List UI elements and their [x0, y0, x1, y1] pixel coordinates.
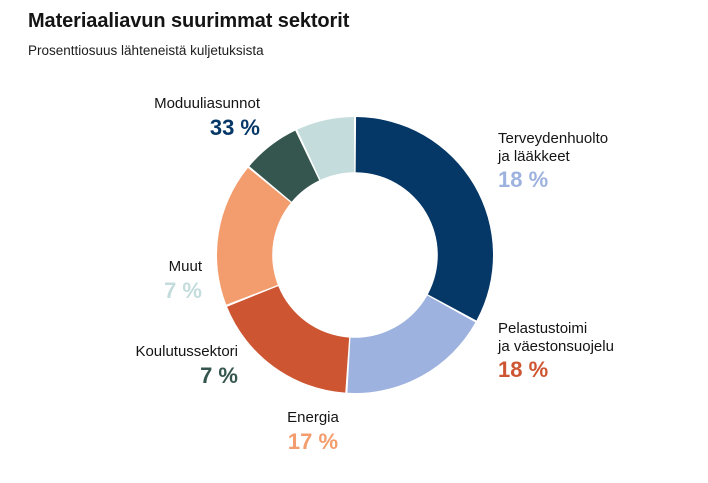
donut-slice[interactable]	[347, 295, 475, 393]
slice-label-pelastustoimi-ja-vaestonsuojelu: Pelastustoimi ja väestonsuojelu 18 %	[498, 320, 698, 383]
slice-label-name-line2: ja lääkkeet	[498, 148, 698, 166]
chart-container: Materiaaliavun suurimmat sektorit Prosen…	[0, 0, 708, 483]
slice-label-value: 7 %	[0, 278, 202, 304]
slice-label-value: 18 %	[498, 357, 698, 383]
slice-label-energia: Energia 17 %	[218, 409, 408, 455]
slice-label-terveydenhuolto-ja-laakkeet: Terveydenhuolto ja lääkkeet 18 %	[498, 130, 698, 193]
chart-subtitle: Prosenttiosuus lähteneistä kuljetuksista	[28, 43, 264, 58]
slice-label-muut: Muut 7 %	[0, 258, 202, 304]
donut-slice[interactable]	[227, 286, 349, 393]
slice-label-name: Moduuliasunnot	[0, 95, 260, 113]
donut-slice-group	[217, 117, 493, 393]
donut-chart	[217, 117, 493, 393]
slice-label-name-line1: Pelastustoimi	[498, 320, 698, 338]
slice-label-value: 7 %	[0, 363, 238, 389]
donut-slice[interactable]	[356, 117, 493, 321]
slice-label-name: Energia	[218, 409, 408, 427]
page-title: Materiaaliavun suurimmat sektorit	[28, 10, 349, 33]
slice-label-name-line2: ja väestonsuojelu	[498, 338, 698, 356]
slice-label-koulutussektori: Koulutussektori 7 %	[0, 343, 238, 389]
donut-chart-svg	[217, 117, 493, 393]
slice-label-name: Muut	[0, 258, 202, 276]
slice-label-value: 17 %	[218, 429, 408, 455]
slice-label-name: Koulutussektori	[0, 343, 238, 361]
slice-label-value: 18 %	[498, 167, 698, 193]
slice-label-value: 33 %	[0, 115, 260, 141]
slice-label-name-line1: Terveydenhuolto	[498, 130, 698, 148]
slice-label-moduuliasunnot: Moduuliasunnot 33 %	[0, 95, 260, 141]
